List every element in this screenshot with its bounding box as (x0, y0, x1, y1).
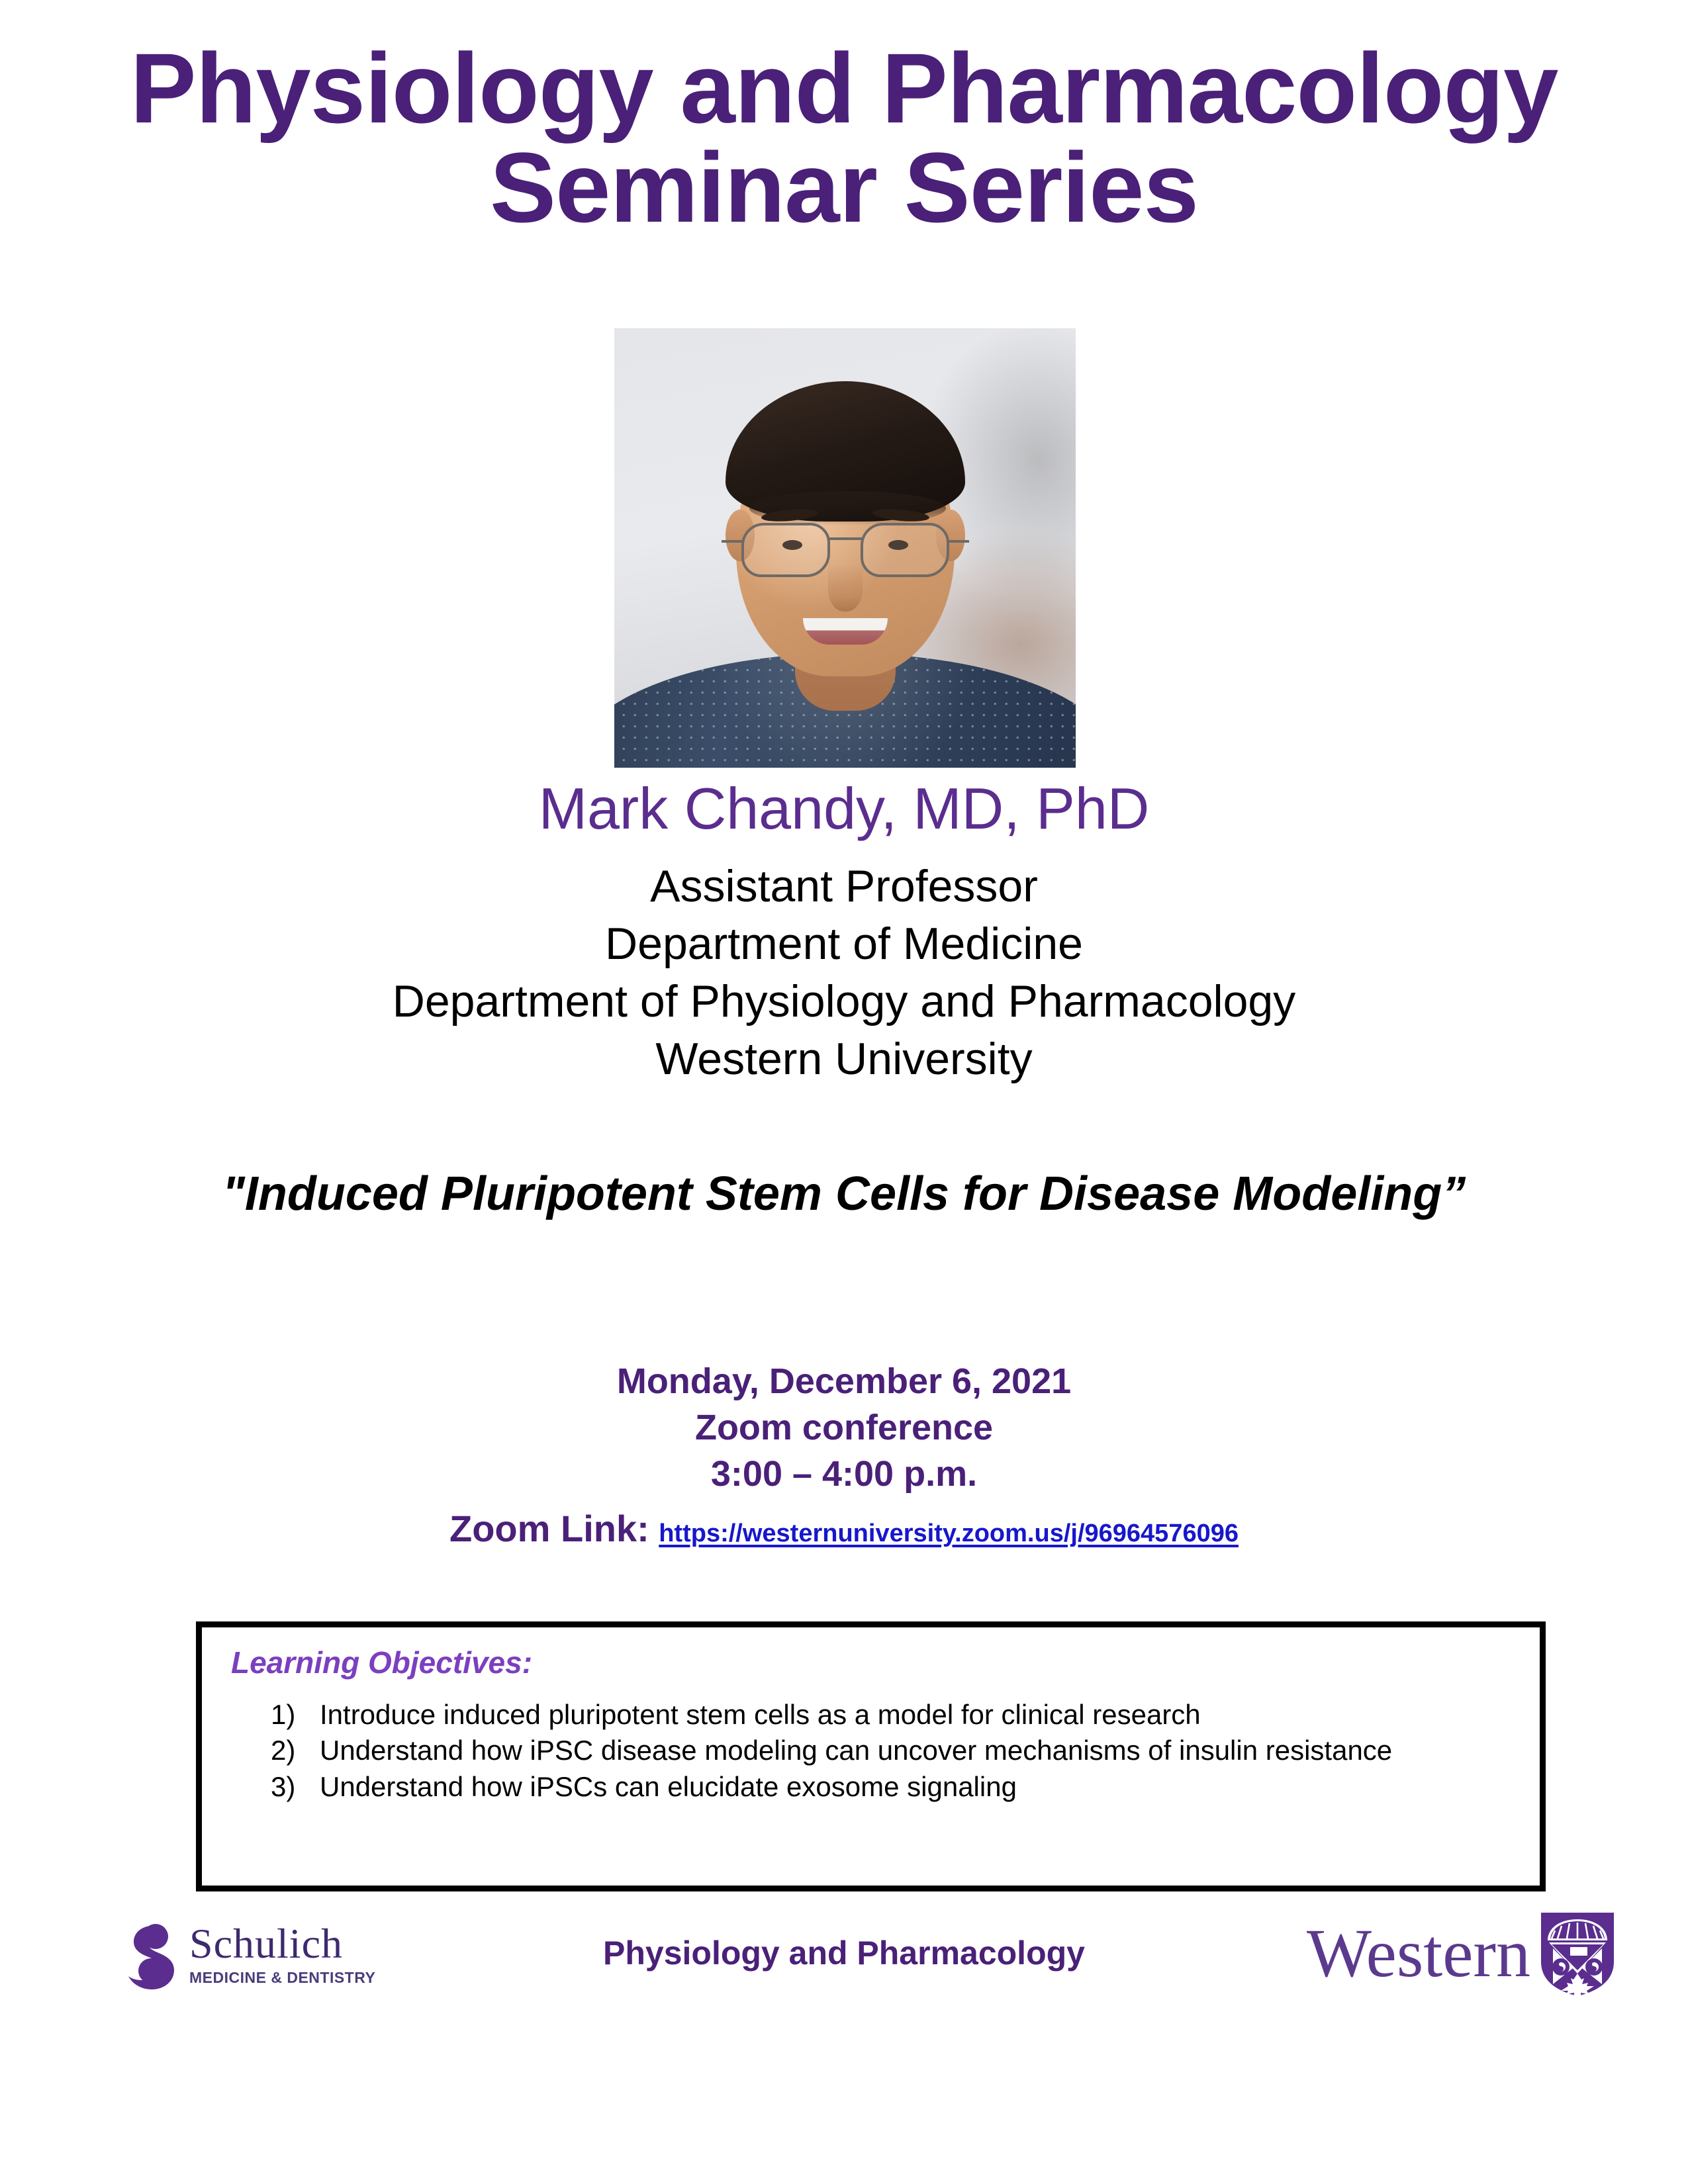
western-shield-icon (1538, 1910, 1617, 1997)
eyeglasses-temple-left (722, 540, 744, 543)
speaker-photo (614, 328, 1076, 768)
list-item-text: Introduce induced pluripotent stem cells… (320, 1697, 1511, 1733)
speaker-affiliations: Assistant Professor Department of Medici… (0, 858, 1688, 1088)
seminar-poster: Physiology and Pharmacology Seminar Seri… (0, 0, 1688, 2184)
affiliation-line: Department of Medicine (0, 915, 1688, 973)
talk-title: "Induced Pluripotent Stem Cells for Dise… (199, 1165, 1489, 1224)
list-item-text: Understand how iPSC disease modeling can… (320, 1733, 1511, 1769)
speaker-photo-background (614, 328, 1076, 768)
page-title-line-1: Physiology and Pharmacology (0, 38, 1688, 138)
talk-title-line-2: Modeling” (1233, 1167, 1466, 1220)
zoom-link-row: Zoom Link: https://westernuniversity.zoo… (0, 1510, 1688, 1547)
list-item-text: Understand how iPSCs can elucidate exoso… (320, 1769, 1511, 1805)
zoom-link-url[interactable]: https://westernuniversity.zoom.us/j/9696… (659, 1520, 1239, 1547)
speaker-nose (828, 564, 863, 612)
speaker-name: Mark Chandy, MD, PhD (0, 780, 1688, 838)
list-item-number: 2) (271, 1733, 320, 1769)
event-format: Zoom conference (0, 1404, 1688, 1451)
eyeglasses-lens-right (861, 523, 949, 577)
page-title-line-2: Seminar Series (0, 138, 1688, 237)
zoom-link-label: Zoom Link: (449, 1508, 649, 1549)
affiliation-line: Western University (0, 1030, 1688, 1088)
list-item: 3) Understand how iPSCs can elucidate ex… (271, 1769, 1511, 1805)
event-date: Monday, December 6, 2021 (0, 1358, 1688, 1404)
affiliation-line: Department of Physiology and Pharmacolog… (0, 973, 1688, 1030)
speaker-head (736, 398, 955, 676)
learning-objectives-title: Learning Objectives: (231, 1646, 1511, 1680)
eyeglasses-lens-left (741, 523, 830, 577)
list-item-number: 3) (271, 1769, 320, 1805)
eyeglasses-temple-right (947, 540, 969, 543)
learning-objectives-list: 1) Introduce induced pluripotent stem ce… (231, 1697, 1511, 1805)
talk-title-line-1: "Induced Pluripotent Stem Cells for Dise… (222, 1167, 1219, 1220)
eyeglasses-bridge (828, 537, 863, 540)
event-time: 3:00 – 4:00 p.m. (0, 1451, 1688, 1497)
event-details: Monday, December 6, 2021 Zoom conference… (0, 1358, 1688, 1498)
list-item: 1) Introduce induced pluripotent stem ce… (271, 1697, 1511, 1733)
learning-objectives-box: Learning Objectives: 1) Introduce induce… (196, 1621, 1546, 1891)
list-item-number: 1) (271, 1697, 320, 1733)
speaker-hair (726, 381, 965, 522)
page-title: Physiology and Pharmacology Seminar Seri… (0, 0, 1688, 237)
speaker-mouth (803, 618, 888, 645)
affiliation-line: Assistant Professor (0, 858, 1688, 915)
footer: Schulich MEDICINE & DENTISTRY Physiology… (0, 1906, 1688, 2052)
western-logo: Western (1307, 1910, 1617, 1997)
list-item: 2) Understand how iPSC disease modeling … (271, 1733, 1511, 1769)
western-wordmark: Western (1307, 1919, 1530, 1988)
